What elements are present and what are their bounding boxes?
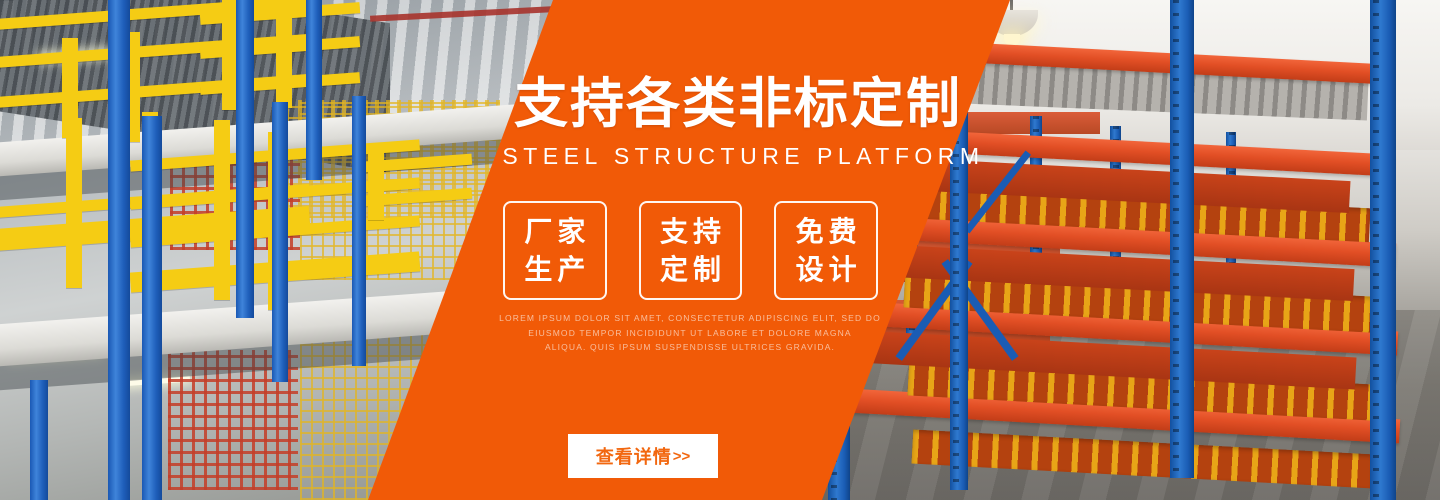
feature-badge-customization[interactable]: 支持 定制 [639,201,743,300]
chevron-right-icon: >> [673,448,691,465]
view-details-button[interactable]: 查看详情>> [568,434,718,478]
feature-badge-line1: 免费 [791,213,862,251]
description-line: LOREM IPSUM DOLOR SIT AMET, CONSECTETUR … [440,311,940,326]
description-paragraph: LOREM IPSUM DOLOR SIT AMET, CONSECTETUR … [440,311,940,355]
page-subtitle: STEEL STRUCTURE PLATFORM [0,143,1440,170]
feature-badge-line1: 支持 [655,213,726,251]
page-title: 支持各类非标定制 [0,76,1440,133]
feature-badge-line2: 生产 [519,251,590,289]
feature-badge-line2: 设计 [791,251,862,289]
feature-badge-row: 厂家 生产 支持 定制 免费 设计 [503,201,878,300]
banner-content: 支持各类非标定制 STEEL STRUCTURE PLATFORM 厂家 生产 … [0,0,1440,500]
feature-badge-manufacturer[interactable]: 厂家 生产 [503,201,607,300]
feature-badge-line1: 厂家 [519,213,590,251]
feature-badge-line2: 定制 [655,251,726,289]
headline-text: 支持各类非标定制 [514,76,962,133]
feature-badge-free-design[interactable]: 免费 设计 [774,201,878,300]
description-line: EIUSMOD TEMPOR INCIDIDUNT UT LABORE ET D… [440,326,940,341]
promo-banner: 支持各类非标定制 STEEL STRUCTURE PLATFORM 厂家 生产 … [0,0,1440,500]
cta-label: 查看详情 [596,443,672,469]
subtitle-text: STEEL STRUCTURE PLATFORM [497,143,985,170]
description-line: ALIQUA. QUIS IPSUM SUSPENDISSE ULTRICES … [440,340,940,355]
